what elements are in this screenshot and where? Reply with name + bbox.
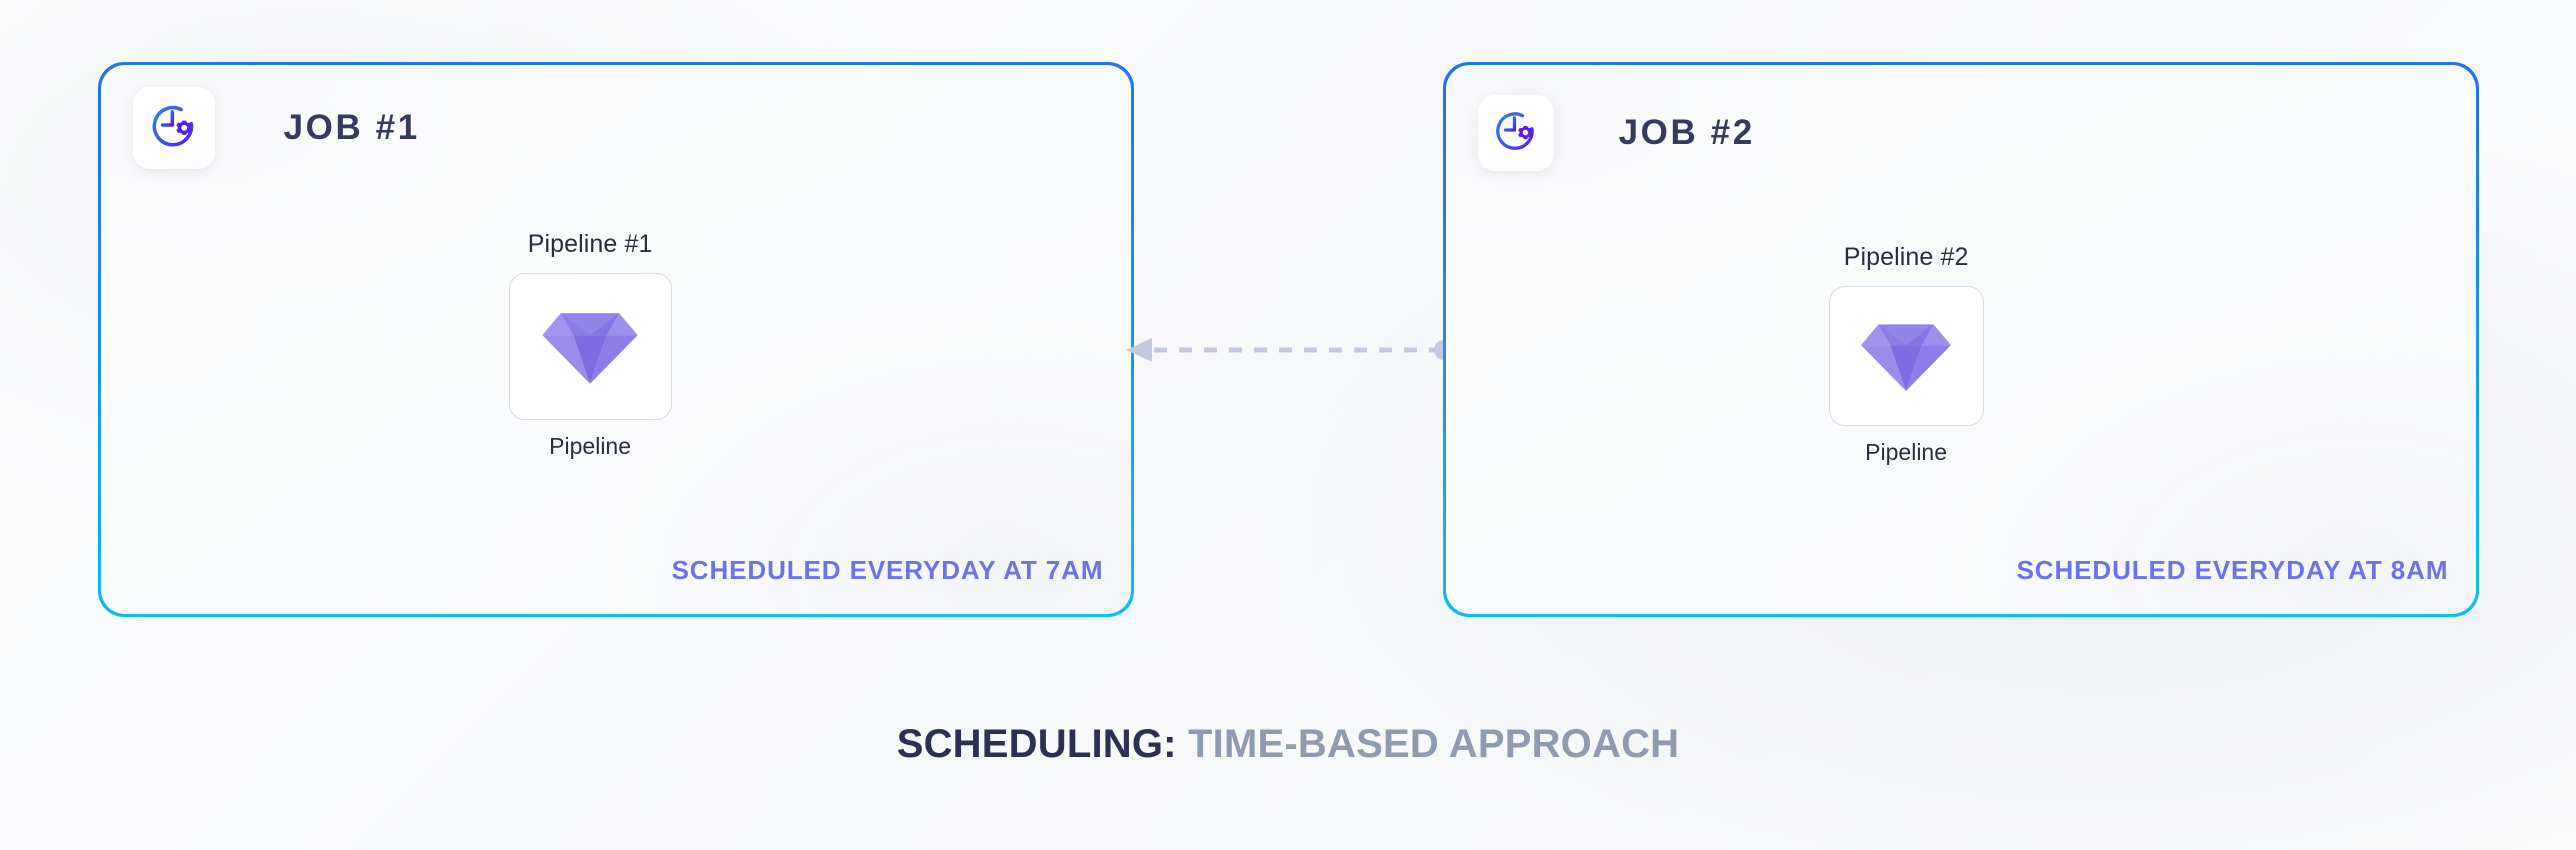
gem-icon bbox=[1856, 310, 1956, 402]
job-card-1-body: JOB #1 Pipeline #1 bbox=[101, 65, 1132, 615]
job-card-2-body: JOB #2 Pipeline #2 bbox=[1446, 65, 2477, 615]
pipeline-name-label: Pipeline #2 bbox=[1844, 243, 1969, 272]
pipeline-caption-label: Pipeline bbox=[549, 433, 631, 460]
job-card-1-schedule: SCHEDULED EVERYDAY AT 7AM bbox=[672, 555, 1104, 586]
pipeline-tile[interactable] bbox=[1829, 286, 1984, 426]
job-card-1-header: JOB #1 bbox=[133, 87, 420, 169]
job-card-2[interactable]: JOB #2 Pipeline #2 bbox=[1443, 62, 2479, 617]
pipeline-name-label: Pipeline #1 bbox=[528, 230, 653, 259]
job-connector bbox=[1126, 322, 1456, 378]
pipeline-tile[interactable] bbox=[509, 273, 672, 420]
job-card-2-pipeline[interactable]: Pipeline #2 bbox=[1829, 243, 1984, 466]
diagram-caption: SCHEDULING: TIME-BASED APPROACH bbox=[0, 722, 2576, 767]
job-card-2-schedule: SCHEDULED EVERYDAY AT 8AM bbox=[2017, 555, 2449, 586]
gem-icon bbox=[537, 298, 643, 395]
job-card-1[interactable]: JOB #1 Pipeline #1 bbox=[98, 62, 1134, 617]
caption-muted-text: TIME-BASED APPROACH bbox=[1188, 722, 1679, 766]
pipeline-caption-label: Pipeline bbox=[1865, 439, 1947, 466]
clock-gear-icon-tile bbox=[133, 87, 215, 169]
diagram-canvas: JOB #1 Pipeline #1 bbox=[0, 0, 2576, 850]
clock-gear-icon bbox=[1491, 105, 1541, 160]
job-card-2-header: JOB #2 bbox=[1478, 95, 1755, 171]
job-card-2-title: JOB #2 bbox=[1619, 113, 1755, 153]
job-card-1-pipeline[interactable]: Pipeline #1 bbox=[509, 230, 672, 460]
clock-gear-icon bbox=[147, 98, 201, 157]
caption-strong-text: SCHEDULING: bbox=[897, 722, 1177, 766]
clock-gear-icon-tile bbox=[1478, 95, 1554, 171]
job-card-1-title: JOB #1 bbox=[284, 108, 420, 148]
